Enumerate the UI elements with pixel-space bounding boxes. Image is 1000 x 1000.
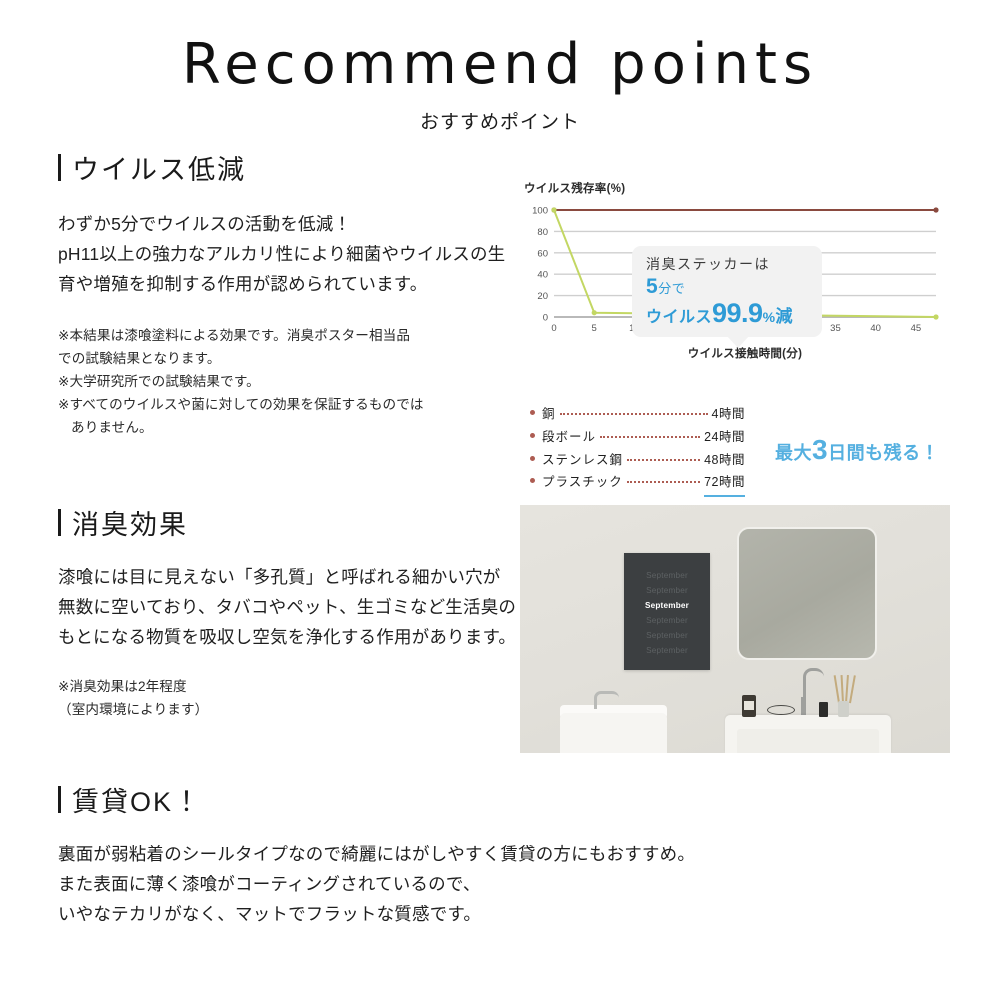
legend-value: 4時間 — [712, 403, 745, 426]
legend-label: ステンレス鋼 — [542, 449, 623, 472]
section-heading-rental: 賃貸OK！ — [58, 780, 938, 819]
photo-diffuser — [838, 701, 849, 717]
photo-reed-sticks — [836, 675, 852, 703]
poster-line: September — [624, 569, 710, 584]
chart-x-tick-label: 5 — [592, 323, 597, 334]
heading-bar-icon — [58, 154, 61, 181]
poster-line: September — [624, 599, 710, 614]
section-heading-deodorize: 消臭効果 — [58, 503, 518, 542]
legend-leader-dots-icon — [560, 413, 708, 415]
chart-y-tick-label: 100 — [532, 206, 548, 217]
chart-plot-area: 020406080100 051015202530354045 消臭ステッカーは… — [524, 204, 944, 339]
photo-bottle — [742, 695, 756, 717]
section-virus-body: わずか5分でウイルスの活動を低減！ pH11以上の強力なアルカリ性により細菌やウ… — [58, 209, 523, 299]
section-heading-rental-label: 賃貸OK！ — [72, 780, 202, 819]
note-line: ※大学研究所での試験結果です。 — [58, 371, 523, 394]
chart-x-tick-label: 40 — [870, 323, 881, 334]
section-heading-deodorize-label: 消臭効果 — [72, 503, 188, 542]
legend-side-note: 最大3日間も残る！ — [775, 434, 939, 466]
photo-september-poster: September September September September … — [624, 553, 710, 670]
page-subtitle: おすすめポイント — [0, 107, 1000, 134]
chart-y-tick-label: 80 — [537, 227, 548, 238]
note-line: での試験結果となります。 — [58, 348, 523, 371]
section-heading-virus-label: ウイルス低減 — [72, 148, 246, 187]
legend-value: 24時間 — [704, 426, 745, 449]
chart-y-tick-labels: 020406080100 — [532, 206, 548, 324]
photo-perfume-bottle — [819, 702, 828, 717]
reed-stick — [845, 675, 848, 703]
legend-leader-dots-icon — [627, 481, 700, 483]
chart-y-axis-label: ウイルス残存率(%) — [524, 180, 944, 196]
legend-value: 72時間 — [704, 471, 745, 497]
section-deodorize-notes: ※消臭効果は2年程度 （室内環境によります） — [58, 676, 518, 722]
photo-small-faucet-icon — [594, 691, 619, 709]
callout-line-2: 5分で — [646, 275, 812, 299]
photo-toilet — [560, 713, 667, 753]
poster-line: September — [624, 629, 710, 644]
survival-time-legend: 銅 4時間 段ボール 24時間 ステンレス鋼 48時間 プラスチック 72時間 … — [530, 403, 950, 497]
side-note-days-number: 3 — [812, 434, 828, 465]
chart-data-point — [933, 207, 938, 212]
photo-vanity-sink — [725, 715, 891, 753]
note-line: ※すべてのウイルスや菌に対しての効果を保証するものでは — [58, 394, 523, 417]
chart-x-tick-label: 35 — [830, 323, 841, 334]
bullet-dot-icon — [530, 410, 535, 415]
chart-x-tick-label: 0 — [551, 323, 556, 334]
legend-value: 48時間 — [704, 449, 745, 472]
legend-list: 銅 4時間 段ボール 24時間 ステンレス鋼 48時間 プラスチック 72時間 — [530, 403, 745, 497]
section-virus-reduction: ウイルス低減 わずか5分でウイルスの活動を低減！ pH11以上の強力なアルカリ性… — [58, 148, 523, 439]
legend-row: 段ボール 24時間 — [530, 426, 745, 449]
note-line: ありません。 — [58, 417, 523, 440]
heading-bar-icon — [58, 509, 61, 536]
poster-line: September — [624, 644, 710, 659]
reed-stick — [841, 675, 844, 703]
callout-percent-number: 99.9 — [712, 298, 763, 328]
legend-row: 銅 4時間 — [530, 403, 745, 426]
section-virus-notes: ※本結果は漆喰塗料による効果です。消臭ポスター相当品 での試験結果となります。 … — [58, 325, 523, 439]
callout-line-1: 消臭ステッカーは — [646, 254, 812, 274]
callout-minutes-unit: 分で — [658, 281, 685, 296]
legend-row: ステンレス鋼 48時間 — [530, 449, 745, 472]
virus-survival-chart: ウイルス残存率(%) 020406080100 0510152025303540… — [524, 180, 944, 361]
chart-data-point — [551, 207, 556, 212]
section-deodorizing-effect: 消臭効果 漆喰には目に見えない「多孔質」と呼ばれる細かい穴が無数に空いており、タ… — [58, 503, 518, 722]
chart-data-point — [592, 310, 597, 315]
note-line: ※消臭効果は2年程度 — [58, 676, 518, 699]
bathroom-interior-photo: September September September September … — [520, 505, 950, 753]
section-rental-ok: 賃貸OK！ 裏面が弱粘着のシールタイプなので綺麗にはがしやすく賃貸の方にもおすす… — [58, 780, 938, 929]
chart-data-point — [933, 314, 938, 319]
callout-line-3: ウイルス99.9%減 — [646, 299, 812, 329]
chart-y-tick-label: 20 — [537, 291, 548, 302]
bullet-dot-icon — [530, 478, 535, 483]
callout-bubble: 消臭ステッカーは 5分で ウイルス99.9%減 — [632, 246, 822, 337]
callout-reduce-word: 減 — [776, 307, 794, 326]
side-note-prefix: 最大 — [775, 443, 812, 463]
section-heading-virus: ウイルス低減 — [58, 148, 523, 187]
chart-x-tick-label: 45 — [911, 323, 922, 334]
chart-y-tick-label: 40 — [537, 270, 548, 281]
photo-mirror — [737, 527, 877, 660]
note-line: ※本結果は漆喰塗料による効果です。消臭ポスター相当品 — [58, 325, 523, 348]
page-header: Recommend points おすすめポイント — [0, 36, 1000, 134]
callout-virus-word: ウイルス — [646, 309, 712, 326]
callout-minutes-number: 5 — [646, 275, 658, 298]
poster-line: September — [624, 584, 710, 599]
legend-leader-dots-icon — [627, 459, 700, 461]
heading-bar-icon — [58, 786, 61, 813]
poster-line: September — [624, 614, 710, 629]
bullet-dot-icon — [530, 456, 535, 461]
legend-label: プラスチック — [542, 471, 623, 494]
callout-percent-sign: % — [763, 309, 776, 325]
section-deodorize-body: 漆喰には目に見えない「多孔質」と呼ばれる細かい穴が無数に空いており、タバコやペッ… — [58, 562, 518, 652]
bullet-dot-icon — [530, 433, 535, 438]
legend-label: 銅 — [542, 403, 556, 426]
legend-leader-dots-icon — [600, 436, 700, 438]
legend-label: 段ボール — [542, 426, 596, 449]
chart-y-tick-label: 60 — [537, 248, 548, 259]
chart-y-tick-label: 0 — [543, 313, 548, 324]
side-note-suffix: 日間も残る！ — [828, 443, 939, 463]
photo-eyeglasses-icon — [767, 705, 795, 715]
legend-row: プラスチック 72時間 — [530, 471, 745, 497]
page-title: Recommend points — [0, 36, 1000, 95]
note-line: （室内環境によります） — [58, 699, 518, 722]
section-rental-body: 裏面が弱粘着のシールタイプなので綺麗にはがしやすく賃貸の方にもおすすめ。 また表… — [58, 839, 938, 929]
